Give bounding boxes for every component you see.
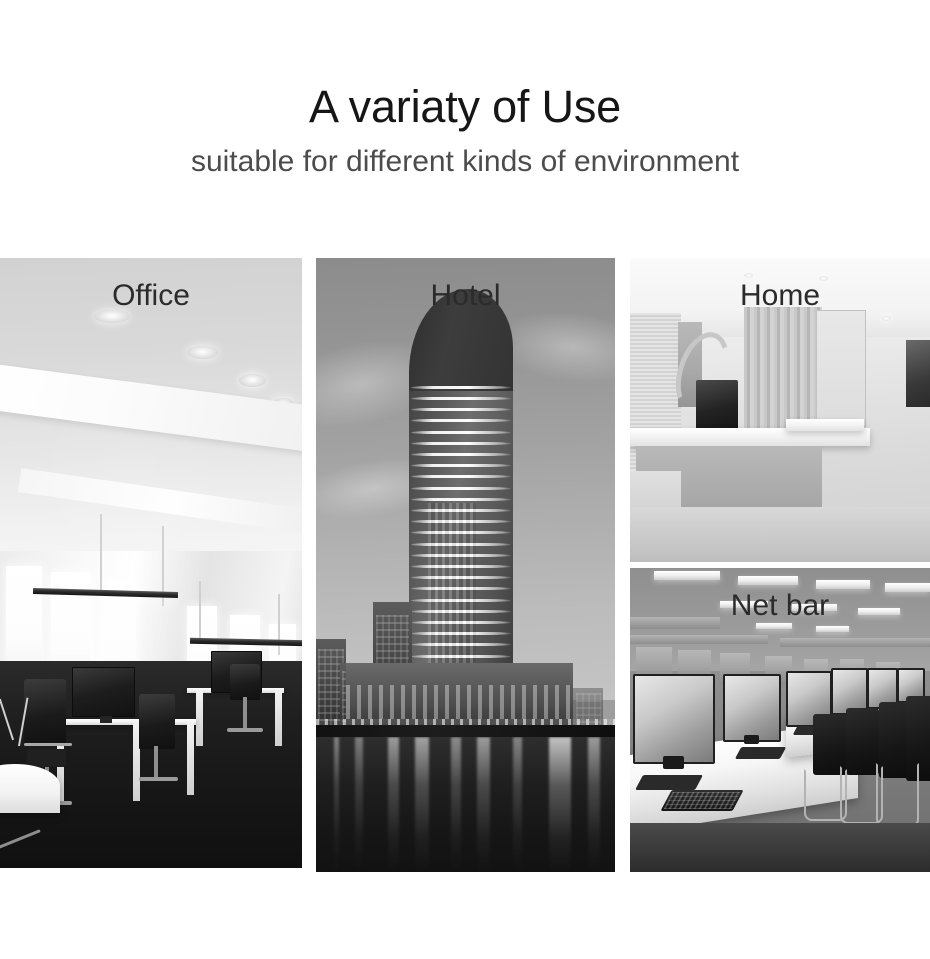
gallery-panel-office[interactable]: Office xyxy=(0,258,302,868)
gallery-panel-netbar[interactable]: Net bar xyxy=(630,568,930,872)
office-scene-image xyxy=(0,258,302,868)
hotel-scene-image xyxy=(316,258,615,872)
page-subtitle: suitable for different kinds of environm… xyxy=(0,134,930,180)
hotel-water xyxy=(316,737,615,872)
netbar-scene-image xyxy=(630,568,930,872)
gallery-panel-hotel[interactable]: Hotel xyxy=(316,258,615,872)
page-title: A variaty of Use xyxy=(0,0,930,134)
home-scene-image xyxy=(630,258,930,562)
usage-gallery: Office xyxy=(0,258,930,872)
gallery-panel-home[interactable]: Home xyxy=(630,258,930,562)
page-header: A variaty of Use suitable for different … xyxy=(0,0,930,180)
